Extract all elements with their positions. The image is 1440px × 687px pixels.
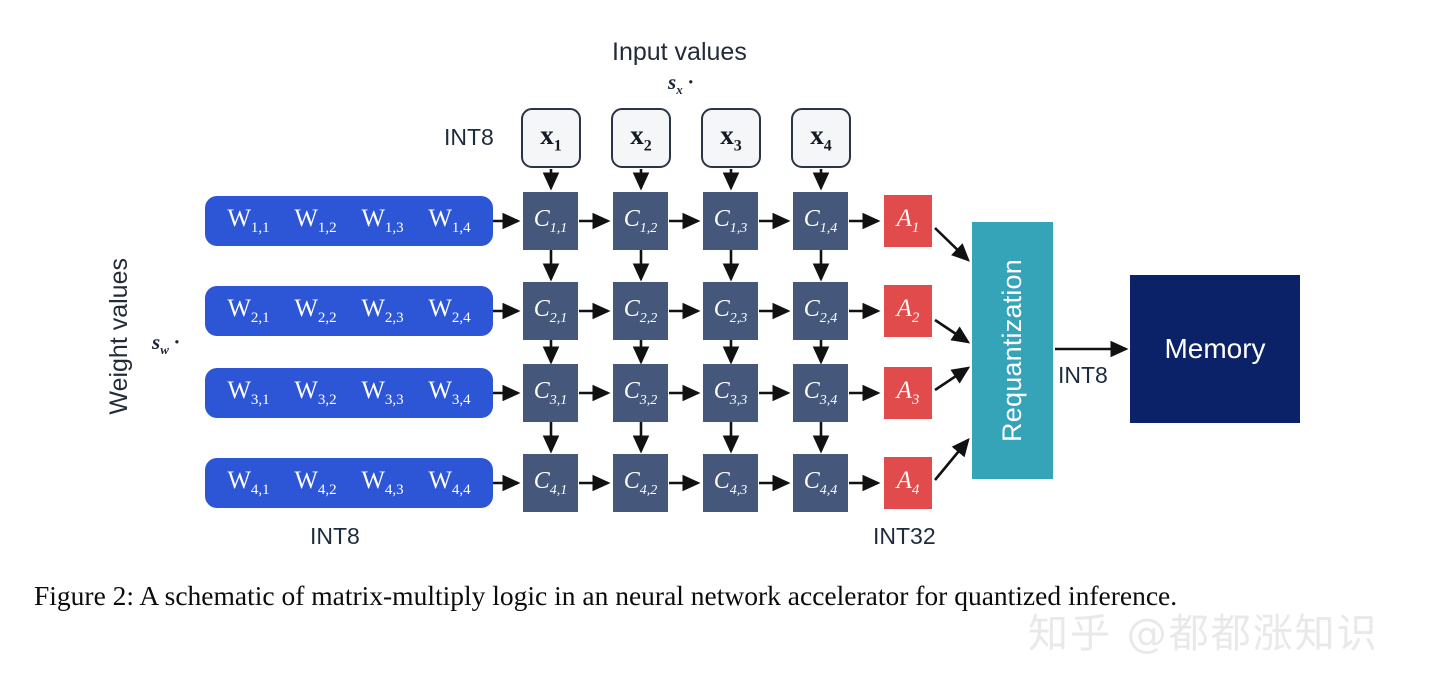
compute-cell-4-1[interactable]: C4,1 xyxy=(523,454,578,512)
requantization-block[interactable]: Requantization xyxy=(972,222,1053,479)
compute-cell-3-4[interactable]: C3,4 xyxy=(793,364,848,422)
accumulator-a1[interactable]: A1 xyxy=(884,195,932,247)
int8-input-label: INT8 xyxy=(444,124,494,151)
compute-cell-4-1-text: C4,1 xyxy=(534,468,568,499)
compute-cell-1-1-text: C1,1 xyxy=(534,206,568,237)
compute-cell-1-2-text: C1,2 xyxy=(624,206,658,237)
compute-cell-3-2-text: C3,2 xyxy=(624,378,658,409)
input-box-x2-text: x2 xyxy=(630,120,652,155)
compute-cell-2-3-text: C2,3 xyxy=(714,296,748,327)
input-values-label: Input values xyxy=(612,38,747,67)
accumulator-a2-text: A2 xyxy=(897,295,920,327)
input-box-x1-text: x1 xyxy=(540,120,562,155)
weight-row-3[interactable]: W3,1 W3,2 W3,3 W3,4 xyxy=(205,368,493,418)
accumulator-a4-text: A4 xyxy=(897,467,920,499)
weight-row-2[interactable]: W2,1 W2,2 W2,3 W2,4 xyxy=(205,286,493,336)
compute-cell-1-1[interactable]: C1,1 xyxy=(523,192,578,250)
compute-cell-1-2[interactable]: C1,2 xyxy=(613,192,668,250)
memory-label: Memory xyxy=(1164,333,1265,365)
weight-cell-3-1: W3,1 xyxy=(227,377,269,409)
compute-cell-3-1[interactable]: C3,1 xyxy=(523,364,578,422)
compute-cell-4-3-text: C4,3 xyxy=(714,468,748,499)
weight-scale-label: sw · xyxy=(152,330,179,358)
figure-caption: Figure 2: A schematic of matrix-multiply… xyxy=(34,578,1404,613)
compute-cell-2-4-text: C2,4 xyxy=(804,296,838,327)
compute-cell-3-3[interactable]: C3,3 xyxy=(703,364,758,422)
int32-accum-label: INT32 xyxy=(873,523,936,550)
accumulator-a3[interactable]: A3 xyxy=(884,367,932,419)
weight-cell-3-3: W3,3 xyxy=(361,377,403,409)
int8-output-label: INT8 xyxy=(1058,362,1108,389)
compute-cell-4-4-text: C4,4 xyxy=(804,468,838,499)
input-box-x3-text: x3 xyxy=(720,120,742,155)
compute-cell-1-3[interactable]: C1,3 xyxy=(703,192,758,250)
compute-cell-2-1[interactable]: C2,1 xyxy=(523,282,578,340)
compute-cell-2-3[interactable]: C2,3 xyxy=(703,282,758,340)
weight-cell-4-1: W4,1 xyxy=(227,467,269,499)
compute-cell-2-2[interactable]: C2,2 xyxy=(613,282,668,340)
weight-cell-1-2: W1,2 xyxy=(294,205,336,237)
compute-cell-3-4-text: C3,4 xyxy=(804,378,838,409)
int8-weight-label: INT8 xyxy=(310,523,360,550)
weight-cell-3-2: W3,2 xyxy=(294,377,336,409)
weight-row-4[interactable]: W4,1 W4,2 W4,3 W4,4 xyxy=(205,458,493,508)
figure-canvas: Input values sx · INT8 x1 x2 x3 x4 Weigh… xyxy=(0,0,1440,687)
input-box-x1[interactable]: x1 xyxy=(521,108,581,168)
weight-cell-1-3: W1,3 xyxy=(361,205,403,237)
weight-cell-4-3: W4,3 xyxy=(361,467,403,499)
compute-cell-1-4-text: C1,4 xyxy=(804,206,838,237)
accumulator-a1-text: A1 xyxy=(897,205,920,237)
input-scale-label: sx · xyxy=(668,70,693,98)
compute-cell-3-1-text: C3,1 xyxy=(534,378,568,409)
input-box-x2[interactable]: x2 xyxy=(611,108,671,168)
memory-block[interactable]: Memory xyxy=(1130,275,1300,423)
accumulator-a4[interactable]: A4 xyxy=(884,457,932,509)
compute-cell-4-2[interactable]: C4,2 xyxy=(613,454,668,512)
input-box-x3[interactable]: x3 xyxy=(701,108,761,168)
weight-cell-2-3: W2,3 xyxy=(361,295,403,327)
compute-cell-3-2[interactable]: C3,2 xyxy=(613,364,668,422)
compute-cell-2-1-text: C2,1 xyxy=(534,296,568,327)
compute-cell-4-3[interactable]: C4,3 xyxy=(703,454,758,512)
weight-cell-1-1: W1,1 xyxy=(227,205,269,237)
accumulator-a3-text: A3 xyxy=(897,377,920,409)
weight-cell-3-4: W3,4 xyxy=(428,377,470,409)
weight-cell-2-1: W2,1 xyxy=(227,295,269,327)
requantization-label: Requantization xyxy=(997,259,1028,442)
weight-cell-4-4: W4,4 xyxy=(428,467,470,499)
input-box-x4-text: x4 xyxy=(810,120,832,155)
compute-cell-2-4[interactable]: C2,4 xyxy=(793,282,848,340)
compute-cell-1-4[interactable]: C1,4 xyxy=(793,192,848,250)
compute-cell-4-2-text: C4,2 xyxy=(624,468,658,499)
compute-cell-4-4[interactable]: C4,4 xyxy=(793,454,848,512)
weight-cell-2-4: W2,4 xyxy=(428,295,470,327)
weight-cell-1-4: W1,4 xyxy=(428,205,470,237)
weight-row-1[interactable]: W1,1 W1,2 W1,3 W1,4 xyxy=(205,196,493,246)
compute-cell-3-3-text: C3,3 xyxy=(714,378,748,409)
weight-values-label: Weight values xyxy=(105,258,134,415)
accumulator-a2[interactable]: A2 xyxy=(884,285,932,337)
input-box-x4[interactable]: x4 xyxy=(791,108,851,168)
weight-cell-4-2: W4,2 xyxy=(294,467,336,499)
compute-cell-1-3-text: C1,3 xyxy=(714,206,748,237)
weight-cell-2-2: W2,2 xyxy=(294,295,336,327)
compute-cell-2-2-text: C2,2 xyxy=(624,296,658,327)
